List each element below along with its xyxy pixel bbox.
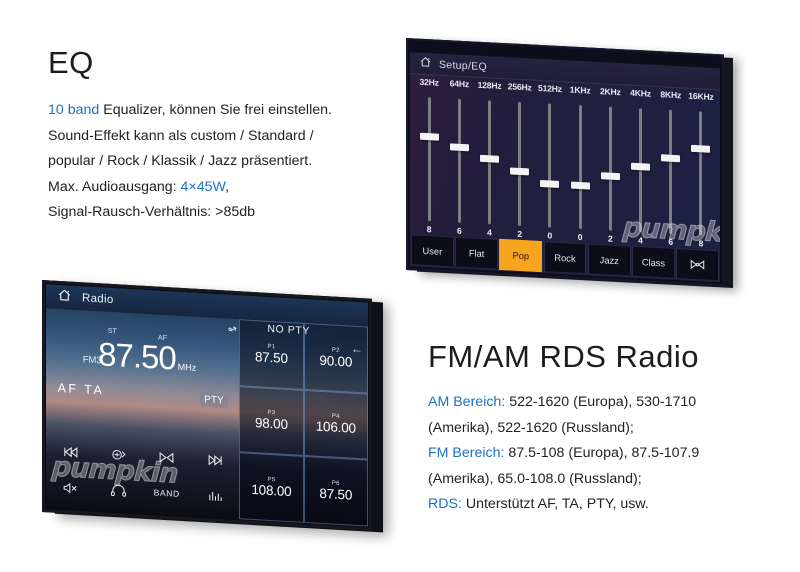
previous-track-icon[interactable]: [46, 444, 94, 460]
radio-device-bezel: Radio NO PTY ← ↬ ST AF FM3 87.50MHz AF T…: [42, 280, 372, 531]
paragraph-line: RDS: Unterstützt AF, TA, PTY, usw.: [428, 492, 699, 518]
mute-icon[interactable]: [46, 480, 94, 496]
fm-section-paragraph: AM Bereich: 522-1620 (Europa), 530-1710 …: [428, 390, 699, 518]
eq-slider-thumb[interactable]: [571, 181, 590, 189]
radio-preset-grid[interactable]: P187.50P290.00P398.00P4106.00P5108.00P68…: [239, 319, 368, 526]
eq-band-label-128hz: 128Hz: [474, 80, 504, 98]
eq-slider-track: [428, 97, 431, 221]
eq-band-label-512hz: 512Hz: [535, 83, 565, 101]
eq-slider-32hz[interactable]: [414, 92, 444, 226]
radio-preset-p2[interactable]: P290.00: [304, 323, 368, 393]
paragraph-line: Sound-Effekt kann als custom / Standard …: [48, 124, 332, 150]
preset-number: P1: [268, 344, 276, 350]
body-text: Max. Audioausgang:: [48, 179, 181, 195]
loop-icon[interactable]: ↬: [226, 322, 240, 338]
eq-band-label-8khz: 8KHz: [656, 89, 686, 107]
paragraph-line: Signal-Rausch-Verhältnis: >85db: [48, 200, 332, 226]
headphone-icon[interactable]: [94, 482, 142, 498]
equalizer-icon[interactable]: [191, 488, 239, 504]
preset-number: P6: [332, 481, 340, 487]
radio-preset-p5[interactable]: P5108.00: [239, 453, 303, 523]
eq-title: Setup/EQ: [439, 58, 487, 72]
home-icon[interactable]: [57, 287, 72, 307]
eq-band-label-256hz: 256Hz: [505, 81, 535, 99]
radio-preset-p4[interactable]: P4106.00: [304, 390, 368, 460]
frequency-display: 87.50MHz: [98, 337, 196, 376]
paragraph-line: 10 band Equalizer, können Sie frei einst…: [48, 98, 332, 124]
eq-slider-track: [699, 111, 702, 235]
eq-slider-16khz[interactable]: [686, 107, 716, 241]
stereo-indicator: ST: [108, 328, 117, 336]
preset-number: P5: [268, 477, 276, 483]
preset-number: P2: [332, 347, 340, 353]
eq-slider-64hz[interactable]: [444, 94, 474, 228]
eq-section-paragraph: 10 band Equalizer, können Sie frei einst…: [48, 98, 332, 226]
eq-preset-user[interactable]: User: [411, 234, 454, 267]
eq-band-label-64hz: 64Hz: [444, 78, 474, 96]
auto-scan-icon[interactable]: [94, 446, 142, 462]
eq-slider-thumb[interactable]: [661, 154, 680, 162]
eq-slider-thumb[interactable]: [510, 167, 529, 175]
body-text: Unterstützt AF, TA, PTY, usw.: [462, 496, 649, 512]
body-text: (Amerika), 65.0-108.0 (Russland);: [428, 471, 642, 487]
eq-slider-track: [609, 107, 612, 231]
accent-text: RDS:: [428, 496, 462, 512]
preset-frequency: 106.00: [316, 419, 356, 436]
eq-band-label-16khz: 16KHz: [686, 91, 716, 109]
eq-band-label-4khz: 4KHz: [625, 87, 655, 105]
eq-device-bezel: ← Setup/EQ 32Hz64Hz128Hz256Hz512Hz1KHz2K…: [406, 38, 724, 287]
preset-number: P3: [268, 410, 276, 416]
eq-slider-track: [518, 102, 521, 226]
body-text: ,: [225, 179, 229, 195]
eq-slider-4khz[interactable]: [625, 103, 655, 237]
radio-title: Radio: [82, 292, 114, 306]
eq-band-label-2khz: 2KHz: [595, 86, 625, 104]
eq-slider-1khz[interactable]: [565, 100, 595, 234]
eq-section-heading: EQ: [48, 46, 94, 80]
eq-slider-512hz[interactable]: [535, 99, 565, 233]
pty-button[interactable]: PTY: [200, 393, 227, 408]
eq-preset-class[interactable]: Class: [632, 246, 675, 279]
af-ta-indicator: AF TA: [58, 381, 105, 398]
paragraph-line: popular / Rock / Klassik / Jazz präsenti…: [48, 149, 332, 175]
eq-device-mockup: ← Setup/EQ 32Hz64Hz128Hz256Hz512Hz1KHz2K…: [398, 30, 746, 282]
eq-slider-row[interactable]: [414, 92, 716, 240]
eq-preset-rock[interactable]: Rock: [544, 241, 587, 274]
eq-slider-track: [548, 103, 551, 227]
body-text: Equalizer, können Sie frei einstellen.: [99, 102, 332, 118]
frequency-unit: MHz: [178, 362, 197, 373]
back-arrow-icon[interactable]: ←: [685, 52, 702, 62]
preset-frequency: 98.00: [255, 416, 288, 433]
eq-slider-128hz[interactable]: [474, 96, 504, 230]
eq-slider-thumb[interactable]: [631, 163, 650, 171]
preset-frequency: 87.50: [255, 349, 288, 366]
eq-slider-track: [579, 105, 582, 229]
balance-icon[interactable]: [676, 248, 719, 281]
accent-text: AM Bereich:: [428, 394, 505, 410]
eq-slider-thumb[interactable]: [480, 155, 499, 163]
eq-screen: ← Setup/EQ 32Hz64Hz128Hz256Hz512Hz1KHz2K…: [410, 52, 720, 282]
eq-slider-2khz[interactable]: [595, 102, 625, 236]
eq-slider-256hz[interactable]: [505, 97, 535, 231]
paragraph-line: (Amerika), 65.0-108.0 (Russland);: [428, 467, 699, 493]
eq-preset-flat[interactable]: Flat: [455, 237, 498, 270]
eq-slider-8khz[interactable]: [656, 105, 686, 239]
eq-slider-thumb[interactable]: [420, 132, 439, 140]
radio-controls-row-2[interactable]: BAND: [46, 470, 239, 513]
preset-number: P4: [332, 414, 340, 420]
radio-device-mockup: Radio NO PTY ← ↬ ST AF FM3 87.50MHz AF T…: [36, 272, 396, 534]
paragraph-line: FM Bereich: 87.5-108 (Europa), 87.5-107.…: [428, 441, 699, 467]
body-text: Signal-Rausch-Verhältnis: >85db: [48, 204, 255, 220]
back-arrow-icon[interactable]: ←: [351, 342, 363, 357]
eq-band-label-32hz: 32Hz: [414, 76, 444, 94]
eq-preset-jazz[interactable]: Jazz: [588, 243, 631, 276]
fm-section-heading: FM/AM RDS Radio: [428, 340, 699, 374]
band-button-label: BAND: [154, 487, 180, 498]
body-text: popular / Rock / Klassik / Jazz präsenti…: [48, 153, 312, 169]
preset-frequency: 90.00: [319, 353, 352, 370]
paragraph-line: (Amerika), 522-1620 (Russland);: [428, 416, 699, 442]
page-root: EQ 10 band Equalizer, können Sie frei ei…: [0, 0, 800, 572]
paragraph-line: Max. Audioausgang: 4×45W,: [48, 175, 332, 201]
radio-main-panel: ↬ ST AF FM3 87.50MHz AF TA PTY BAND pump…: [46, 308, 239, 519]
eq-preset-pop[interactable]: Pop: [499, 239, 542, 272]
frequency-value: 87.50: [98, 335, 176, 376]
next-track-icon[interactable]: [191, 452, 239, 468]
accent-text: 4×45W: [181, 179, 226, 195]
radio-controls-row-1[interactable]: [46, 436, 239, 475]
radio-preset-p3[interactable]: P398.00: [239, 386, 303, 456]
eq-slider-thumb[interactable]: [450, 143, 469, 151]
eq-slider-thumb[interactable]: [540, 180, 559, 188]
eq-slider-track: [458, 99, 461, 223]
radio-preset-p6[interactable]: P687.50: [304, 456, 368, 526]
eq-band-label-1khz: 1KHz: [565, 84, 595, 102]
body-text: 522-1620 (Europa), 530-1710: [505, 394, 696, 410]
play-pause-icon[interactable]: [143, 449, 191, 465]
eq-slider-thumb[interactable]: [691, 145, 710, 153]
home-icon[interactable]: [419, 54, 432, 73]
pty-status: NO PTY: [267, 323, 310, 337]
preset-frequency: 87.50: [319, 486, 352, 503]
eq-slider-thumb[interactable]: [601, 172, 620, 180]
body-text: 87.5-108 (Europa), 87.5-107.9: [504, 445, 699, 461]
preset-frequency: 108.00: [251, 482, 291, 499]
body-text: (Amerika), 522-1620 (Russland);: [428, 420, 634, 436]
paragraph-line: AM Bereich: 522-1620 (Europa), 530-1710: [428, 390, 699, 416]
accent-text: 10 band: [48, 102, 99, 118]
body-text: Sound-Effekt kann als custom / Standard …: [48, 128, 314, 144]
accent-text: FM Bereich:: [428, 445, 504, 461]
band-button[interactable]: BAND: [143, 487, 191, 500]
radio-screen: Radio NO PTY ← ↬ ST AF FM3 87.50MHz AF T…: [46, 284, 368, 526]
eq-slider-track: [669, 110, 672, 234]
